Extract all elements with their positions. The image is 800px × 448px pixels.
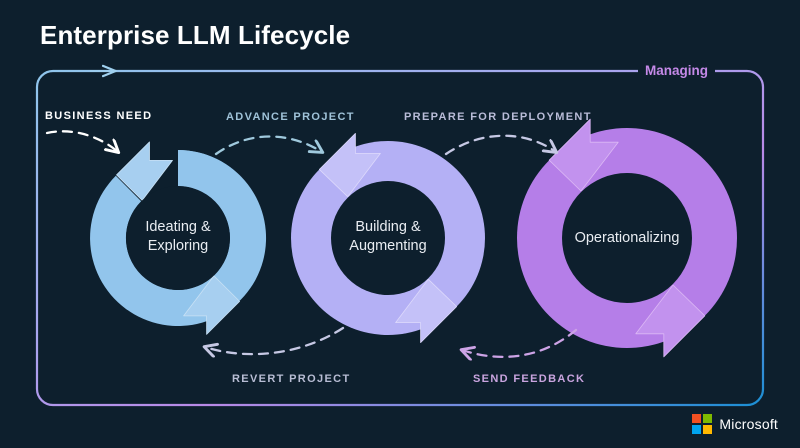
- stage-label-operationalizing: Operationalizing: [552, 229, 702, 248]
- microsoft-wordmark: Microsoft: [719, 416, 778, 432]
- arrow-revert-project: [205, 328, 343, 354]
- flow-label-revert-project: REVERT PROJECT: [232, 373, 351, 385]
- stage-label-building-augmenting: Building & Augmenting: [323, 218, 453, 256]
- microsoft-logo-icon: [692, 414, 712, 434]
- flow-label-business-need: BUSINESS NEED: [45, 110, 152, 122]
- microsoft-logo: Microsoft: [692, 414, 778, 434]
- arrow-advance-project: [216, 137, 322, 155]
- arrow-send-feedback: [462, 330, 576, 357]
- stage-label-ideating-exploring: Ideating & Exploring: [118, 218, 238, 256]
- flow-label-prepare-for-deployment: PREPARE FOR DEPLOYMENT: [404, 111, 592, 123]
- flow-label-advance-project: ADVANCE PROJECT: [226, 111, 355, 123]
- arrow-prepare-for-deployment: [446, 136, 556, 154]
- flow-label-send-feedback: SEND FEEDBACK: [473, 373, 585, 385]
- arrow-business-need: [47, 131, 118, 152]
- diagram-canvas: Enterprise LLM Lifecycle: [0, 0, 800, 448]
- managing-label: Managing: [638, 63, 715, 78]
